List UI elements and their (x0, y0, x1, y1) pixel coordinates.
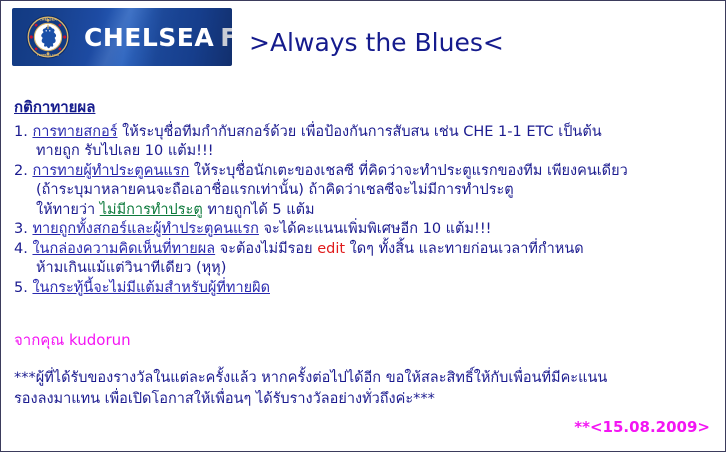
rules-heading-wrap: กติกาทายผล (14, 98, 714, 120)
rule-cont-2b-pre: ให้ทายว่า (36, 202, 100, 218)
rule-link-no-goal[interactable]: ไม่มีการทำประตู (100, 202, 203, 218)
banner-wordmark: CHELSEAFC (84, 25, 232, 50)
rules-list: 1. การทายสกอร์ ให้ระบุชื่อทีมกำกับสกอร์ด… (14, 123, 714, 299)
rule-cont-1a: ทายถูก รับไปเลย 10 แต้ม!!! (14, 142, 714, 162)
crest-bottom-text: FOOTBALL CLUB (37, 54, 59, 57)
rule-text-4-post: ใดๆ ทั้งสิ้น และทายก่อนเวลาที่กำหนด (345, 241, 584, 257)
author-signature: จากคุณ kudorun (14, 328, 131, 352)
rules-section: กติกาทายผล 1. การทายสกอร์ ให้ระบุชื่อทีม… (14, 98, 714, 298)
wordmark-fc: FC (220, 23, 232, 52)
rule-text-1: ให้ระบุชื่อทีมกำกับสกอร์ด้วย เพื่อป้องกั… (118, 124, 602, 140)
rule-item-5: 5. ในกระทู้นี้จะไม่มีแต้มสำหรับผู้ที่ทาย… (14, 279, 714, 299)
rule-number-1: 1. (14, 124, 28, 140)
rule-link-5[interactable]: ในกระทู้นี้จะไม่มีแต้มสำหรับผู้ที่ทายผิด (32, 280, 270, 296)
date-stamp: **<15.08.2009> (574, 418, 710, 436)
rule-text-4-edit: edit (317, 241, 345, 257)
rule-link-2[interactable]: การทายผู้ทำประตูคนแรก (32, 163, 189, 179)
rule-link-4[interactable]: ในกล่องความคิดเห็นที่ทายผล (32, 241, 215, 257)
rule-text-4-pre: จะต้องไม่มีรอย (215, 241, 317, 257)
crest-top-text: CHELSEA (39, 18, 57, 22)
rule-number-5: 5. (14, 280, 28, 296)
rule-cont-2b: ให้ทายว่า ไม่มีการทำประตู ทายถูกได้ 5 แต… (14, 201, 714, 221)
rule-item-3: 3. ทายถูกทั้งสกอร์และผู้ทำประตูคนแรก จะไ… (14, 220, 714, 240)
rule-number-3: 3. (14, 221, 28, 237)
rules-heading: กติกาทายผล (14, 98, 95, 118)
chelsea-lion-crest-icon: CHELSEA FOOTBALL CLUB (26, 15, 70, 59)
wordmark-chelsea: CHELSEA (84, 23, 214, 52)
rule-cont-4a: ห้ามเกินแม้แต่วินาทีเดียว (หุหุ) (14, 259, 714, 279)
rule-number-4: 4. (14, 241, 28, 257)
footnote: ***ผู้ที่ได้รับของรางวัลในแต่ละครั้งแล้ว… (14, 368, 714, 410)
chelsea-fc-banner: CHELSEA FOOTBALL CLUB CHELSEAFC (12, 8, 232, 66)
rule-link-3[interactable]: ทายถูกทั้งสกอร์และผู้ทำประตูคนแรก (32, 221, 258, 237)
rule-item-4: 4. ในกล่องความคิดเห็นที่ทายผล จะต้องไม่ม… (14, 240, 714, 279)
rule-text-3: จะได้คะแนนเพิ่มพิเศษอีก 10 แต้ม!!! (259, 221, 492, 237)
rule-item-2: 2. การทายผู้ทำประตูคนแรก ให้ระบุชื่อนักเ… (14, 162, 714, 221)
footnote-line-2: รองลงมาแทน เพื่อเปิดโอกาสให้เพื่อนๆ ได้ร… (14, 389, 714, 410)
rule-cont-2a: (ถ้าระบุมาหลายคนจะถือเอาชื่อแรกเท่านั้น)… (14, 181, 714, 201)
rule-number-2: 2. (14, 163, 28, 179)
page-title: >Always the Blues< (249, 30, 504, 55)
rule-link-1[interactable]: การทายสกอร์ (32, 124, 117, 140)
rule-item-1: 1. การทายสกอร์ ให้ระบุชื่อทีมกำกับสกอร์ด… (14, 123, 714, 162)
footnote-line-1: ***ผู้ที่ได้รับของรางวัลในแต่ละครั้งแล้ว… (14, 368, 714, 389)
rule-text-2: ให้ระบุชื่อนักเตะของเชลซี ที่คิดว่าจะทำป… (189, 163, 627, 179)
page-root: CHELSEA FOOTBALL CLUB CHELSEAFC >Always … (0, 0, 726, 452)
rule-cont-2b-post: ทายถูกได้ 5 แต้ม (203, 202, 315, 218)
